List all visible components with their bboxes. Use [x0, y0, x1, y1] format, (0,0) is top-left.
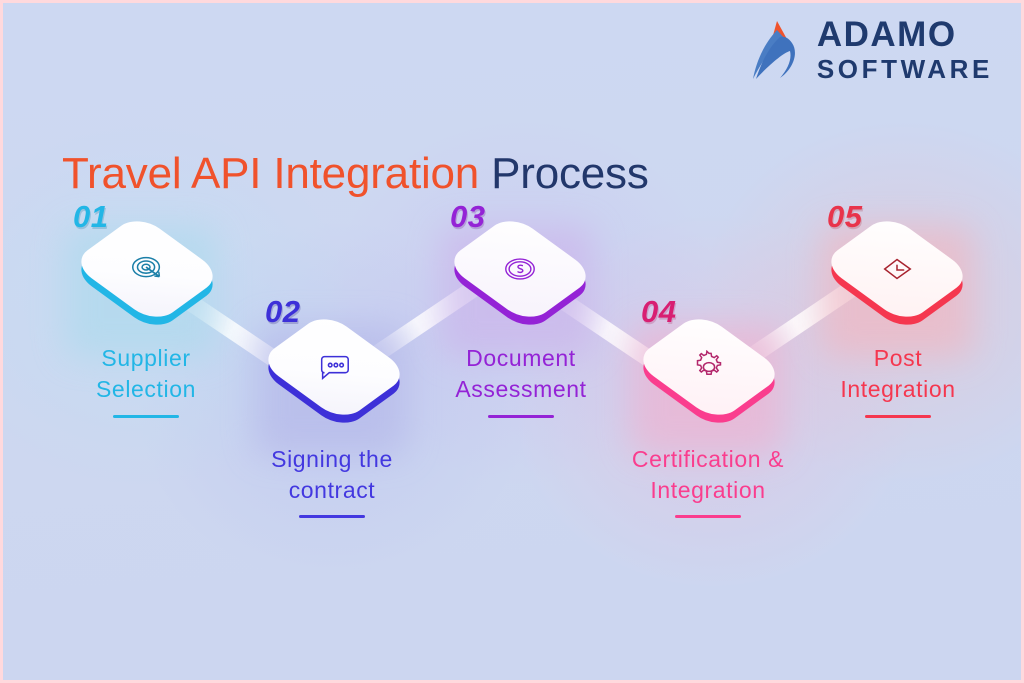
step-1-label-line1: Supplier: [16, 343, 276, 374]
step-2-label-line2: contract: [202, 475, 462, 506]
step-2-label-line1: Signing the: [202, 444, 462, 475]
step-5-label-line2: Integration: [768, 374, 1021, 405]
step-4-tile[interactable]: [643, 301, 775, 433]
step-5-label-line1: Post: [768, 343, 1021, 374]
step-2-label: Signing the contract: [202, 444, 462, 507]
step-2-tile[interactable]: [268, 301, 400, 433]
step-4-label: Certification & Integration: [578, 444, 838, 507]
step-3-tile[interactable]: [454, 203, 586, 335]
step-5-tile[interactable]: [831, 203, 963, 335]
step-4-label-line2: Integration: [578, 475, 838, 506]
logo-wordmark: ADAMO SOFTWARE: [817, 17, 993, 82]
step-4-label-line1: Certification &: [578, 444, 838, 475]
step-1-label: Supplier Selection: [16, 343, 276, 406]
logo-line-adamo: ADAMO: [817, 17, 993, 52]
title-accent: Travel API Integration: [62, 149, 479, 198]
step-2-underline: [299, 515, 365, 518]
step-1-tile-face: [70, 213, 223, 324]
step-4-underline: [675, 515, 741, 518]
step-5-underline: [865, 415, 931, 418]
logo-line-software: SOFTWARE: [817, 56, 993, 82]
infographic-canvas: ADAMO SOFTWARE Travel API Integration Pr…: [3, 3, 1021, 680]
step-5-tile-face: [820, 213, 973, 324]
step-4-tile-face: [632, 311, 785, 422]
step-1-underline: [113, 415, 179, 418]
step-3-label-line1: Document: [391, 343, 651, 374]
title-dark: Process: [479, 149, 649, 198]
step-1-tile[interactable]: [81, 203, 213, 335]
logo-swoosh-icon: [747, 19, 803, 81]
step-5-label: Post Integration: [768, 343, 1021, 406]
step-3-label-line2: Assessment: [391, 374, 651, 405]
step-2-tile-face: [257, 311, 410, 422]
adamo-software-logo: ADAMO SOFTWARE: [747, 17, 993, 82]
step-3-underline: [488, 415, 554, 418]
step-3-tile-face: [443, 213, 596, 324]
step-3-label: Document Assessment: [391, 343, 651, 406]
page-title: Travel API Integration Process: [62, 149, 649, 199]
step-1-label-line2: Selection: [16, 374, 276, 405]
